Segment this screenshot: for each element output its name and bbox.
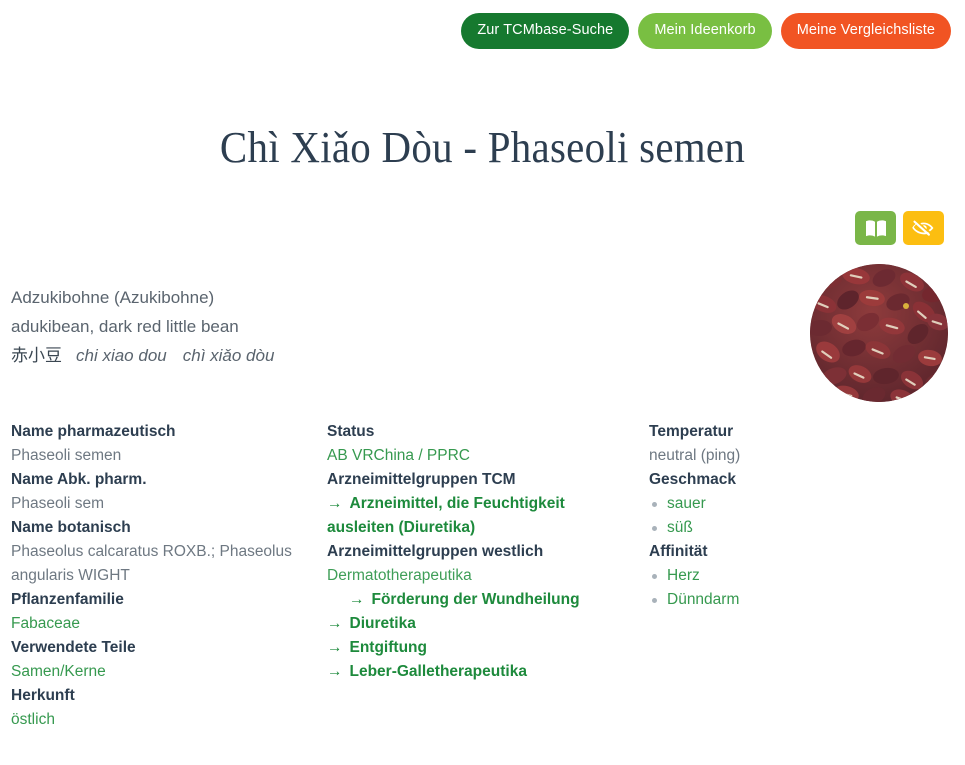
list-item[interactable]: Dünndarm <box>649 588 947 612</box>
western-group-link-leber-galle[interactable]: →Leber-Galletherapeutika <box>327 660 626 684</box>
field-label: Affinität <box>649 540 947 564</box>
list-item[interactable]: Herz <box>649 564 947 588</box>
herb-photo <box>810 264 948 402</box>
arrow-right-icon: → <box>349 591 365 608</box>
herb-names-block: Adzukibohne (Azukibohne) adukibean, dark… <box>11 283 531 370</box>
field-arzneimittelgruppen-tcm: Arzneimittelgruppen TCM →Arzneimittel, d… <box>327 468 626 540</box>
western-group-link-entgiftung[interactable]: →Entgiftung <box>327 636 626 660</box>
western-group-label: Leber-Galletherapeutika <box>350 663 527 680</box>
field-value: Phaseolus calcaratus ROXB.; Phaseolus an… <box>11 540 304 588</box>
western-group-link-diuretika[interactable]: →Diuretika <box>327 612 626 636</box>
field-value-link[interactable]: Samen/Kerne <box>11 660 304 684</box>
german-name: Adzukibohne (Azukibohne) <box>11 283 531 312</box>
field-label: Herkunft <box>11 684 304 708</box>
column-identity: Name pharmazeutisch Phaseoli semen Name … <box>0 420 322 765</box>
field-status: Status AB VRChina / PPRC <box>327 420 626 468</box>
herb-detail-page: Zur TCMbase-Suche Mein Ideenkorb Meine V… <box>0 0 965 765</box>
tcm-group-link[interactable]: →Arzneimittel, die Feuchtigkeit ausleite… <box>327 492 597 540</box>
field-label: Status <box>327 420 626 444</box>
eye-slash-icon-button[interactable] <box>903 211 944 245</box>
field-affinitaet: Affinität Herz Dünndarm <box>649 540 947 612</box>
field-name-botanisch: Name botanisch Phaseolus calcaratus ROXB… <box>11 516 304 588</box>
tcmbase-search-button[interactable]: Zur TCMbase-Suche <box>461 13 629 49</box>
page-title: Chì Xiǎo Dòu - Phaseoli semen <box>34 122 931 173</box>
list-item[interactable]: süß <box>649 516 947 540</box>
field-value: neutral (ping) <box>649 444 947 468</box>
western-group-label: Diuretika <box>350 615 416 632</box>
field-label: Arzneimittelgruppen TCM <box>327 468 626 492</box>
icon-action-bar <box>855 211 944 245</box>
comparison-list-button[interactable]: Meine Vergleichsliste <box>781 13 951 49</box>
field-label: Arzneimittelgruppen westlich <box>327 540 626 564</box>
eye-slash-icon <box>912 218 936 238</box>
column-drug-groups: Status AB VRChina / PPRC Arzneimittelgru… <box>322 420 644 765</box>
idea-basket-button[interactable]: Mein Ideenkorb <box>638 13 771 49</box>
list-item[interactable]: sauer <box>649 492 947 516</box>
western-group-label: Entgiftung <box>350 639 427 656</box>
field-value-link[interactable]: Fabaceae <box>11 612 304 636</box>
field-label: Geschmack <box>649 468 947 492</box>
field-value-link[interactable]: östlich <box>11 708 304 732</box>
arrow-right-icon: → <box>327 639 343 656</box>
field-label: Name botanisch <box>11 516 304 540</box>
info-columns: Name pharmazeutisch Phaseoli semen Name … <box>0 420 965 765</box>
field-name-abk-pharm: Name Abk. pharm. Phaseoli sem <box>11 468 304 516</box>
book-icon-button[interactable] <box>855 211 896 245</box>
field-label: Verwendete Teile <box>11 636 304 660</box>
field-geschmack: Geschmack sauer süß <box>649 468 947 540</box>
column-properties: Temperatur neutral (ping) Geschmack saue… <box>644 420 965 765</box>
arrow-right-icon: → <box>327 615 343 632</box>
field-name-pharmazeutisch: Name pharmazeutisch Phaseoli semen <box>11 420 304 468</box>
top-action-bar: Zur TCMbase-Suche Mein Ideenkorb Meine V… <box>461 13 951 49</box>
western-group-parent[interactable]: Dermatotherapeutika <box>327 564 626 588</box>
field-value: Phaseoli semen <box>11 444 304 468</box>
affinitaet-list: Herz Dünndarm <box>649 564 947 612</box>
field-pflanzenfamilie: Pflanzenfamilie Fabaceae <box>11 588 304 636</box>
book-icon <box>865 219 887 238</box>
field-label: Name pharmazeutisch <box>11 420 304 444</box>
field-value: Phaseoli sem <box>11 492 304 516</box>
field-temperatur: Temperatur neutral (ping) <box>649 420 947 468</box>
tcm-group-label: Arzneimittel, die Feuchtigkeit ausleiten… <box>327 495 565 536</box>
hanzi-name: 赤小豆 <box>11 346 62 365</box>
field-label: Name Abk. pharm. <box>11 468 304 492</box>
chinese-name-row: 赤小豆chi xiao douchì xiǎo dòu <box>11 341 531 370</box>
pinyin-plain: chi xiao dou <box>76 346 167 365</box>
english-name: adukibean, dark red little bean <box>11 312 531 341</box>
western-group-label: Förderung der Wundheilung <box>372 591 580 608</box>
pinyin-tone: chì xiǎo dòu <box>183 346 275 365</box>
field-arzneimittelgruppen-westlich: Arzneimittelgruppen westlich Dermatother… <box>327 540 626 684</box>
field-herkunft: Herkunft östlich <box>11 684 304 732</box>
arrow-right-icon: → <box>327 495 343 512</box>
field-verwendete-teile: Verwendete Teile Samen/Kerne <box>11 636 304 684</box>
field-label: Pflanzenfamilie <box>11 588 304 612</box>
arrow-right-icon: → <box>327 663 343 680</box>
western-group-link-wundheilung[interactable]: →Förderung der Wundheilung <box>327 588 626 612</box>
geschmack-list: sauer süß <box>649 492 947 540</box>
field-value-link[interactable]: AB VRChina / PPRC <box>327 444 626 468</box>
field-label: Temperatur <box>649 420 947 444</box>
